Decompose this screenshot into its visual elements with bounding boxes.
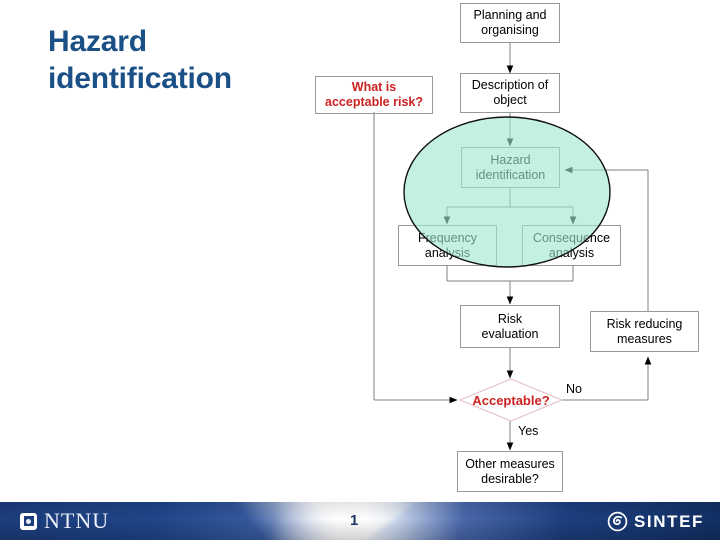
page-number: 1 [350,512,358,529]
node-planning-and-organising[interactable]: Planning andorganising [460,3,560,43]
ntnu-mark-icon [20,513,37,530]
node-consequence-analysis[interactable]: Consequenceanalysis [522,225,621,266]
node-description-of-object[interactable]: Description ofobject [460,73,560,113]
sintef-label: SINTEF [634,512,704,532]
node-other-measures-desirable[interactable]: Other measuresdesirable? [457,451,563,492]
node-acceptable-label: Acceptable? [458,378,564,423]
ntnu-mark-inner-square [24,516,34,526]
sintef-logo: SINTEF [607,511,704,532]
node-frequency-analysis[interactable]: Frequencyanalysis [398,225,497,266]
ntnu-logo: NTNU [20,508,109,534]
node-risk-reducing-measures[interactable]: Risk reducingmeasures [590,311,699,352]
sintef-mark-icon [607,511,628,532]
node-what-is-acceptable-risk[interactable]: What isacceptable risk? [315,76,433,114]
edge-label-yes: Yes [518,424,538,438]
flowchart: Planning andorganising Description ofobj… [0,0,720,500]
footer-bar: NTNU 1 SINTEF [0,502,720,540]
slide: Hazardidentification [0,0,720,540]
ntnu-label: NTNU [44,508,109,534]
node-risk-evaluation[interactable]: Riskevaluation [460,305,560,348]
edge-label-no: No [566,382,582,396]
ntnu-mark-dot [26,519,31,524]
node-hazard-identification[interactable]: Hazardidentification [461,147,560,188]
